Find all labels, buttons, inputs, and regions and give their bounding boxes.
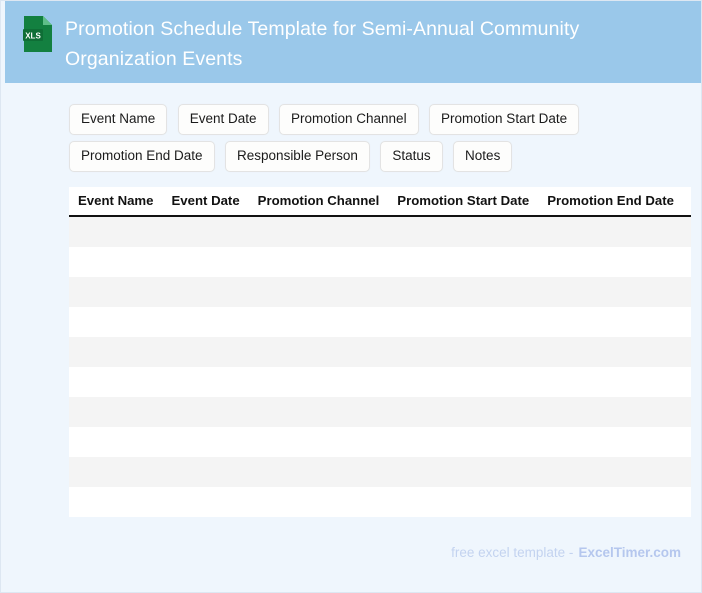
table-cell[interactable]	[69, 247, 163, 277]
table-cell[interactable]	[69, 427, 163, 457]
table-cell[interactable]	[249, 216, 389, 247]
page-root: XLS Promotion Schedule Template for Semi…	[0, 0, 702, 593]
template-table: Event Name Event Date Promotion Channel …	[69, 187, 691, 517]
table-head: Event Name Event Date Promotion Channel …	[69, 187, 691, 216]
table-cell[interactable]	[163, 427, 249, 457]
table-cell[interactable]	[538, 247, 683, 277]
svg-text:XLS: XLS	[25, 31, 41, 40]
table-cell[interactable]	[683, 216, 691, 247]
table-cell[interactable]	[69, 216, 163, 247]
table-cell[interactable]	[69, 307, 163, 337]
table-cell[interactable]	[388, 457, 538, 487]
table-cell[interactable]	[249, 367, 389, 397]
table-cell[interactable]	[683, 427, 691, 457]
table-cell[interactable]	[163, 307, 249, 337]
table-cell[interactable]	[69, 337, 163, 367]
column-header-responsible-person[interactable]: Responsible Person	[683, 187, 691, 216]
table-cell[interactable]	[388, 427, 538, 457]
table-cell[interactable]	[683, 337, 691, 367]
table-cell[interactable]	[683, 277, 691, 307]
table-cell[interactable]	[249, 457, 389, 487]
page-title: Promotion Schedule Template for Semi-Ann…	[21, 14, 683, 74]
table-cell[interactable]	[538, 487, 683, 517]
table-row[interactable]	[69, 216, 691, 247]
chip-responsible-person[interactable]: Responsible Person	[225, 141, 370, 172]
footer-brand-link[interactable]: ExcelTimer.com	[578, 545, 681, 560]
page-header: XLS Promotion Schedule Template for Semi…	[5, 1, 702, 83]
xls-file-icon: XLS	[23, 15, 53, 53]
table-cell[interactable]	[388, 337, 538, 367]
table-cell[interactable]	[538, 216, 683, 247]
table-row[interactable]	[69, 277, 691, 307]
table-row[interactable]	[69, 337, 691, 367]
table-body	[69, 216, 691, 517]
table-cell[interactable]	[163, 487, 249, 517]
table-cell[interactable]	[538, 367, 683, 397]
table-cell[interactable]	[249, 277, 389, 307]
table-cell[interactable]	[683, 457, 691, 487]
column-header-event-name[interactable]: Event Name	[69, 187, 163, 216]
chip-notes[interactable]: Notes	[453, 141, 512, 172]
table-row[interactable]	[69, 427, 691, 457]
table-row[interactable]	[69, 247, 691, 277]
table-row[interactable]	[69, 307, 691, 337]
table-cell[interactable]	[538, 307, 683, 337]
chip-event-date[interactable]: Event Date	[178, 104, 269, 135]
table-cell[interactable]	[683, 307, 691, 337]
chip-promotion-channel[interactable]: Promotion Channel	[279, 104, 419, 135]
table-cell[interactable]	[683, 367, 691, 397]
table-row[interactable]	[69, 457, 691, 487]
table-cell[interactable]	[249, 487, 389, 517]
table-cell[interactable]	[388, 367, 538, 397]
template-table-container: Event Name Event Date Promotion Channel …	[69, 187, 691, 517]
table-row[interactable]	[69, 367, 691, 397]
table-cell[interactable]	[249, 427, 389, 457]
table-cell[interactable]	[388, 216, 538, 247]
table-row[interactable]	[69, 487, 691, 517]
table-row[interactable]	[69, 397, 691, 427]
footer-text: free excel template -	[451, 545, 573, 560]
table-cell[interactable]	[538, 397, 683, 427]
table-cell[interactable]	[249, 337, 389, 367]
table-cell[interactable]	[388, 247, 538, 277]
column-header-promotion-channel[interactable]: Promotion Channel	[249, 187, 389, 216]
table-cell[interactable]	[249, 397, 389, 427]
column-header-promotion-end-date[interactable]: Promotion End Date	[538, 187, 683, 216]
table-cell[interactable]	[388, 277, 538, 307]
chip-promotion-end-date[interactable]: Promotion End Date	[69, 141, 215, 172]
table-cell[interactable]	[163, 367, 249, 397]
table-cell[interactable]	[683, 247, 691, 277]
table-cell[interactable]	[388, 307, 538, 337]
table-cell[interactable]	[163, 277, 249, 307]
table-cell[interactable]	[163, 337, 249, 367]
table-cell[interactable]	[69, 457, 163, 487]
column-header-promotion-start-date[interactable]: Promotion Start Date	[388, 187, 538, 216]
table-cell[interactable]	[683, 487, 691, 517]
table-cell[interactable]	[538, 277, 683, 307]
table-cell[interactable]	[388, 487, 538, 517]
chip-status[interactable]: Status	[380, 141, 442, 172]
chip-event-name[interactable]: Event Name	[69, 104, 167, 135]
table-cell[interactable]	[163, 247, 249, 277]
table-cell[interactable]	[538, 457, 683, 487]
table-cell[interactable]	[388, 397, 538, 427]
table-cell[interactable]	[69, 277, 163, 307]
table-header-row: Event Name Event Date Promotion Channel …	[69, 187, 691, 216]
table-cell[interactable]	[163, 397, 249, 427]
table-cell[interactable]	[249, 307, 389, 337]
table-cell[interactable]	[683, 397, 691, 427]
table-cell[interactable]	[69, 487, 163, 517]
field-chip-list: Event Name Event Date Promotion Channel …	[69, 104, 669, 178]
footer-attribution: free excel template -ExcelTimer.com	[451, 543, 681, 563]
table-cell[interactable]	[163, 457, 249, 487]
column-header-event-date[interactable]: Event Date	[163, 187, 249, 216]
table-cell[interactable]	[249, 247, 389, 277]
chip-promotion-start-date[interactable]: Promotion Start Date	[429, 104, 579, 135]
table-cell[interactable]	[69, 397, 163, 427]
table-cell[interactable]	[538, 337, 683, 367]
table-cell[interactable]	[69, 367, 163, 397]
table-cell[interactable]	[163, 216, 249, 247]
table-cell[interactable]	[538, 427, 683, 457]
